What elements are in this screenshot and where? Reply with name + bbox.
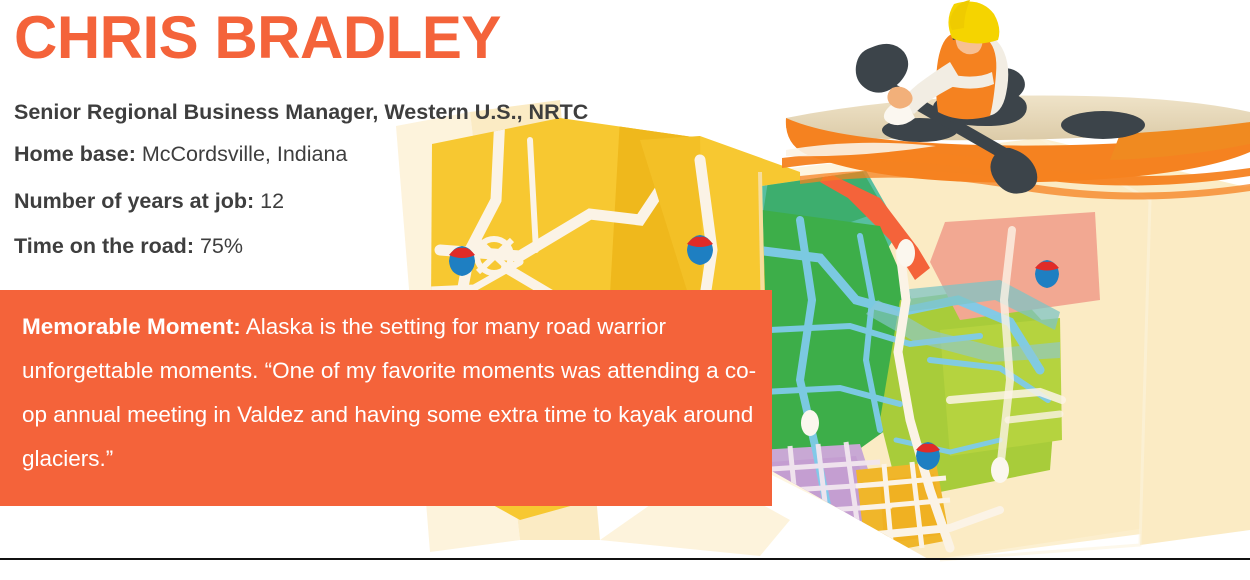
page-title: CHRIS BRADLEY [14, 8, 501, 68]
fact-value: 12 [254, 189, 284, 213]
job-title: Senior Regional Business Manager, Wester… [14, 100, 588, 125]
bottom-divider [0, 558, 1250, 560]
fact-time-on-road: Time on the road: 75% [14, 234, 243, 259]
fact-home-base: Home base: McCordsville, Indiana [14, 142, 347, 167]
text-content: CHRIS BRADLEY Senior Regional Business M… [0, 0, 1250, 580]
fact-years-at-job: Number of years at job: 12 [14, 189, 284, 214]
memorable-moment-quote: Memorable Moment: Alaska is the setting … [22, 305, 757, 481]
quote-label: Memorable Moment: [22, 314, 241, 339]
profile-card: CHRIS BRADLEY Senior Regional Business M… [0, 0, 1250, 580]
fact-label: Number of years at job: [14, 189, 254, 213]
fact-label: Home base: [14, 142, 136, 166]
fact-label: Time on the road: [14, 234, 194, 258]
fact-value: 75% [194, 234, 243, 258]
fact-value: McCordsville, Indiana [136, 142, 348, 166]
